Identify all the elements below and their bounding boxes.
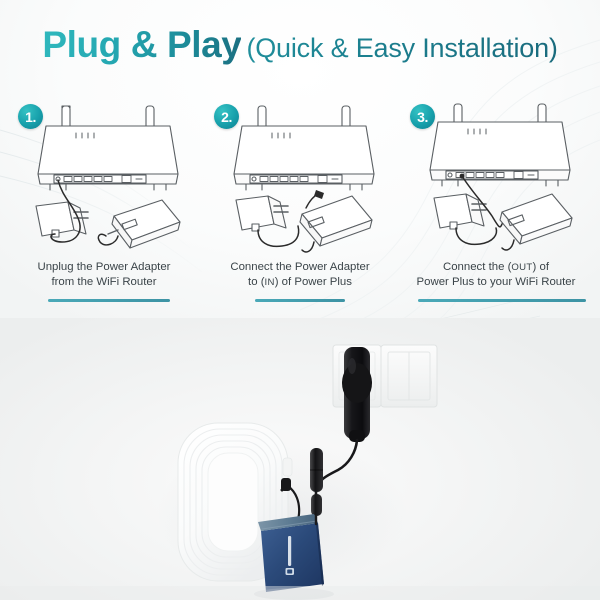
step-1-caption: Unplug the Power Adapter from the WiFi R… xyxy=(6,260,202,290)
step-2-caption-line2: to (IN) of Power Plus xyxy=(202,275,398,290)
step-3: 3. xyxy=(398,96,594,316)
step-2: 2. xyxy=(202,96,398,316)
step-1-caption-line2: from the WiFi Router xyxy=(6,275,202,290)
installed-photo-scene xyxy=(0,318,600,600)
step-3-caption-line2: Power Plus to your WiFi Router xyxy=(398,275,594,290)
step-2-illustration xyxy=(202,96,398,258)
step-3-illustration xyxy=(398,96,594,258)
installation-infographic: Plug & Play(Quick & Easy Installation) 1… xyxy=(0,0,600,600)
inline-connectors xyxy=(310,448,323,516)
step-2-caption-post: ) of Power Plus xyxy=(275,276,352,288)
step-2-caption-line1: Connect the Power Adapter xyxy=(202,260,398,275)
step-3-caption: Connect the (OUT) of Power Plus to your … xyxy=(398,260,594,290)
step-2-caption: Connect the Power Adapter to (IN) of Pow… xyxy=(202,260,398,290)
step-3-caption-post: ) of xyxy=(533,261,549,273)
step-2-caption-in: IN xyxy=(265,277,275,288)
step-1-illustration xyxy=(6,96,202,258)
step-1-underline xyxy=(48,299,170,302)
instructions-section: Plug & Play(Quick & Easy Installation) 1… xyxy=(0,0,600,318)
step-3-caption-pre: Connect the ( xyxy=(443,261,511,273)
step-3-caption-line1: Connect the (OUT) of xyxy=(398,260,594,275)
floor-line xyxy=(0,586,600,600)
step-3-underline xyxy=(418,299,586,302)
step-1: 1. xyxy=(6,96,202,316)
title-main: Plug & Play xyxy=(42,24,241,65)
photo-illustration xyxy=(0,318,600,600)
steps-row: 1. xyxy=(0,96,600,316)
title-subtitle: (Quick & Easy Installation) xyxy=(246,33,557,63)
step-3-caption-out: OUT xyxy=(511,262,532,273)
step-1-caption-line1: Unplug the Power Adapter xyxy=(6,260,202,275)
router-dc-plug xyxy=(281,478,291,491)
wall-plug-adapter xyxy=(342,347,372,442)
page-title: Plug & Play(Quick & Easy Installation) xyxy=(0,26,600,63)
step-2-caption-pre: to ( xyxy=(248,276,264,288)
step-2-underline xyxy=(255,299,345,302)
